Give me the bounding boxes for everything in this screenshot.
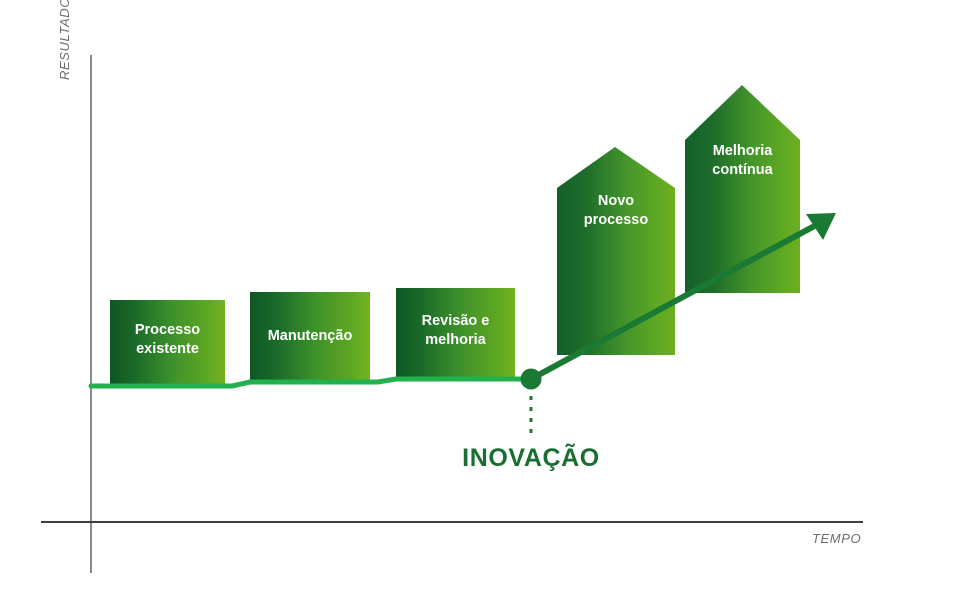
shape-manutencao [250, 292, 370, 382]
shape-processo-existente [110, 300, 225, 386]
y-axis-label: RESULTADO [57, 62, 72, 80]
shape-revisao-melhoria [396, 288, 515, 379]
x-axis-label: TEMPO [812, 531, 861, 546]
shape-novo-processo [557, 147, 675, 355]
circle-marker-icon [521, 369, 542, 390]
diagram-canvas [0, 0, 957, 601]
innovation-label: INOVAÇÃO [401, 444, 661, 473]
continuous-improvement-diagram: RESULTADO TEMPO Processo existente Manut… [0, 0, 957, 601]
